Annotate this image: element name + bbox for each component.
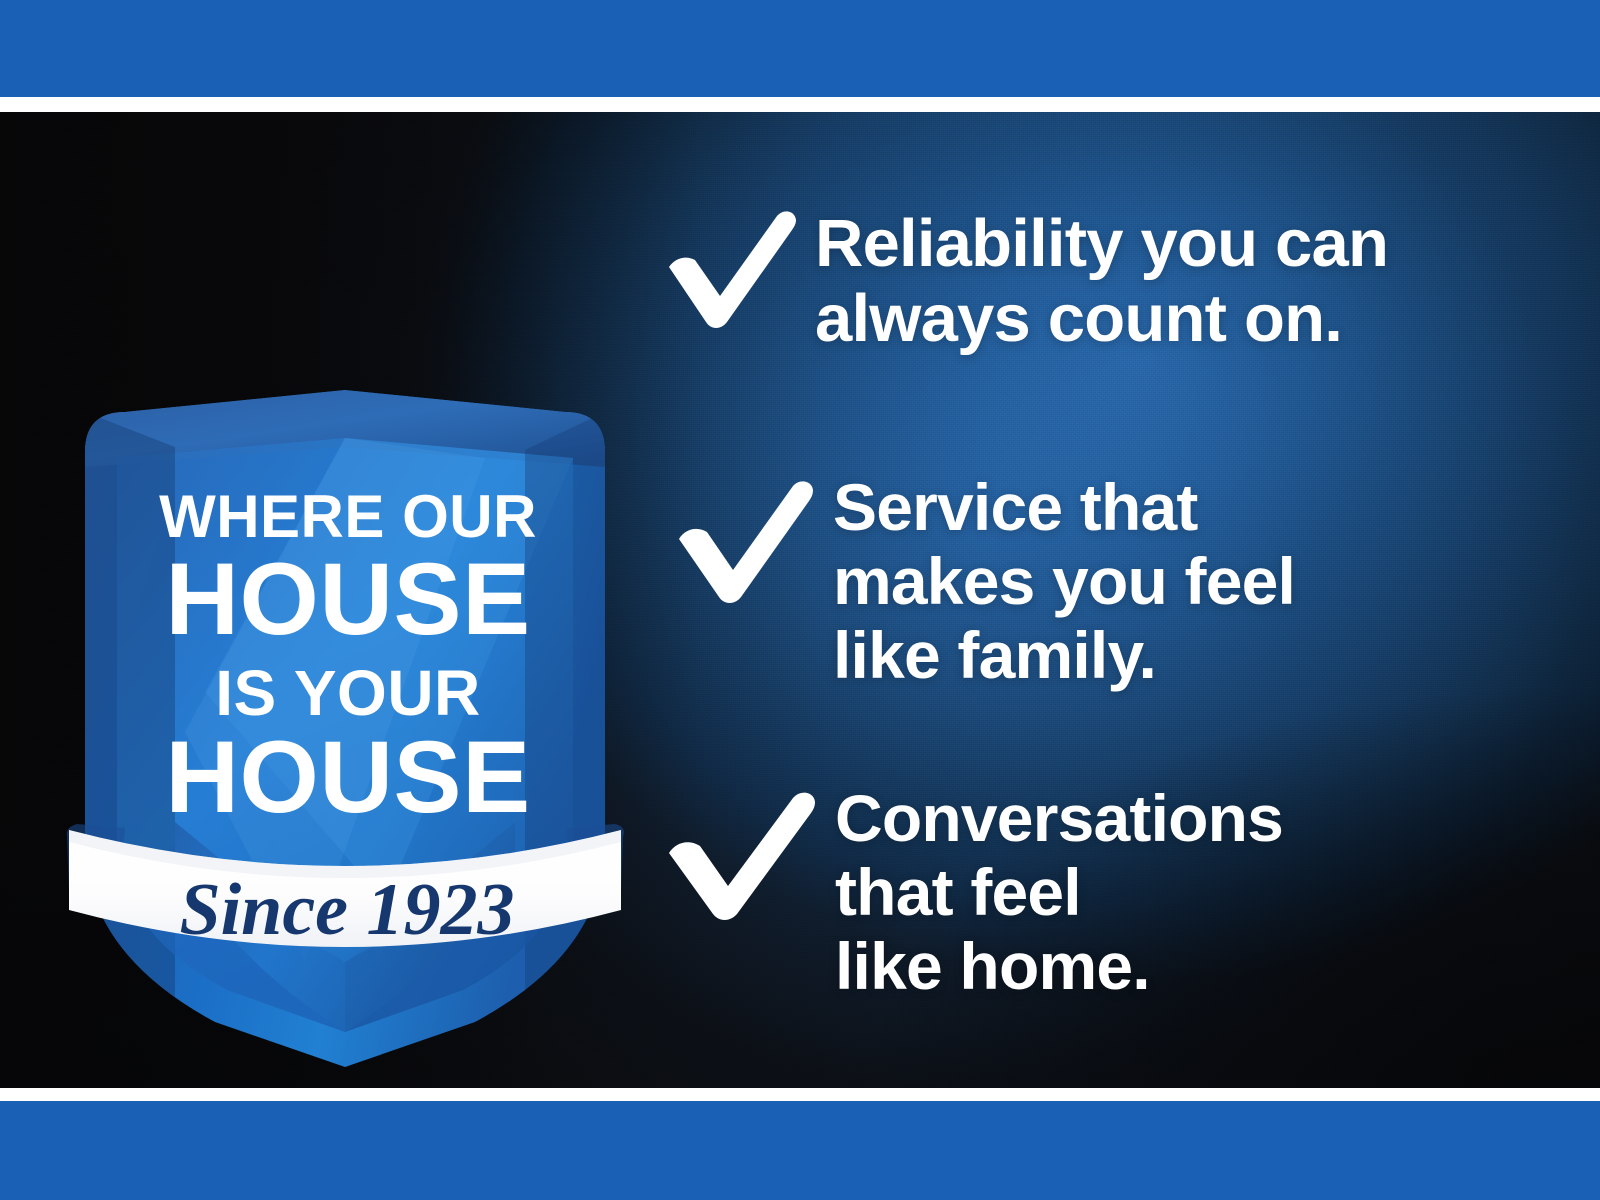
shield-line-0: WHERE OUR	[159, 483, 537, 550]
list-item: Service that makes you feel like family.	[675, 467, 1295, 693]
shield-right-shadow	[525, 412, 605, 1052]
benefits-list: Reliability you can always count on. Ser…	[665, 112, 1545, 1088]
shield-line-3: HOUSE	[165, 720, 530, 834]
checkmark-icon	[675, 479, 815, 603]
bottom-white-rule	[0, 1088, 1600, 1101]
top-brand-bar	[0, 0, 1600, 97]
bottom-brand-bar	[0, 1101, 1600, 1200]
shield-logo: WHERE OUR HOUSE IS YOUR HOUSE Since 1923	[55, 262, 635, 1072]
promo-graphic-canvas: WHERE OUR HOUSE IS YOUR HOUSE Since 1923	[0, 0, 1600, 1200]
list-item-label: Reliability you can always count on.	[815, 206, 1388, 356]
top-white-rule	[0, 97, 1600, 112]
checkmark-icon	[665, 210, 797, 328]
list-item: Reliability you can always count on.	[665, 210, 1388, 356]
shield-line-2: IS YOUR	[215, 657, 481, 729]
list-item: Conversations that feel like home.	[665, 782, 1283, 1004]
shield-line-1: HOUSE	[165, 542, 530, 656]
main-stage: WHERE OUR HOUSE IS YOUR HOUSE Since 1923	[0, 112, 1600, 1088]
ribbon-since-text: Since 1923	[179, 869, 514, 951]
list-item-label: Conversations that feel like home.	[835, 782, 1283, 1004]
checkmark-icon	[665, 790, 817, 920]
list-item-label: Service that makes you feel like family.	[833, 471, 1295, 693]
